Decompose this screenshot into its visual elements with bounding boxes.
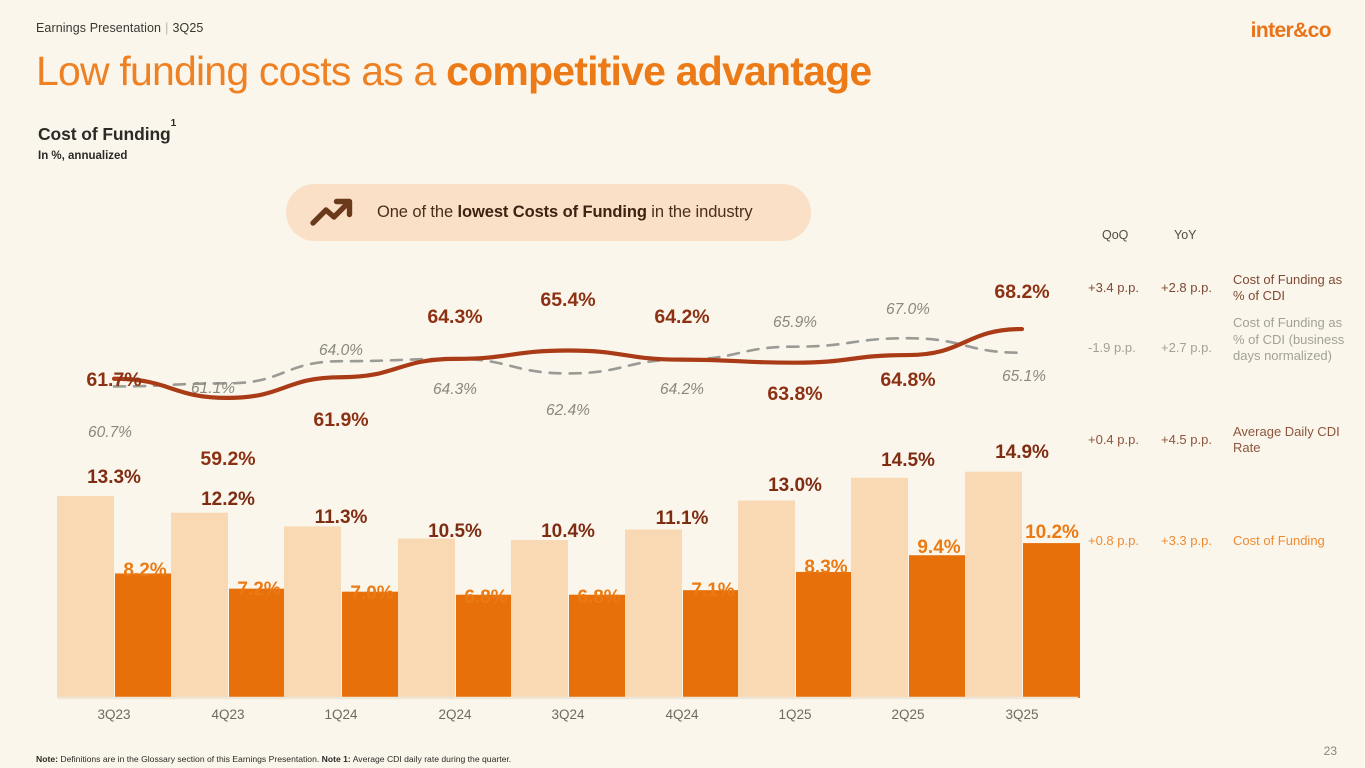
chart-title-footnote-marker: 1 [171,118,176,129]
bar-light [511,540,568,698]
callout-text: One of the lowest Costs of Funding in th… [377,203,753,222]
breadcrumb-quarter: 3Q25 [172,21,203,35]
bar-light [57,496,114,698]
bar-value-label: 14.5% [853,450,963,472]
callout-banner: One of the lowest Costs of Funding in th… [286,184,811,241]
metric-series-name: Cost of Funding as % of CDI [1233,272,1353,305]
bar-dark [456,595,513,698]
page-number: 23 [1324,744,1337,758]
bar-value-label: 7.1% [658,580,768,602]
line-value-label-dashed: 62.4% [513,402,623,420]
callout-text-emphasis: lowest Costs of Funding [458,203,647,221]
line-value-label-dashed: 61.1% [158,380,268,398]
x-axis-label: 1Q25 [750,707,840,722]
bar-light [284,526,341,698]
line-value-label-dashed: 67.0% [853,301,963,319]
breadcrumb-separator: | [165,21,168,35]
metric-series-name: Cost of Funding [1233,533,1353,550]
metric-series-name: Cost of Funding as % of CDI (business da… [1233,315,1353,365]
bar-dark [1023,543,1080,698]
metric-yoy-value: +3.3 p.p. [1161,533,1212,548]
metric-qoq-value: +3.4 p.p. [1088,280,1139,295]
x-axis-label: 2Q24 [410,707,500,722]
chart-title-text: Cost of Funding [38,124,171,144]
line-value-label-dashed: 64.2% [627,381,737,399]
callout-text-before: One of the [377,203,458,221]
footnote-note1-text: Average CDI daily rate during the quarte… [351,754,511,764]
line-value-label-dashed: 65.9% [740,314,850,332]
metrics-col-yoy: YoY [1174,228,1196,242]
metric-yoy-value: +2.7 p.p. [1161,340,1212,355]
chart-title: Cost of Funding1 [38,124,176,145]
bar-dark [796,572,853,698]
bar-dark [229,589,286,698]
x-axis-label: 2Q25 [863,707,953,722]
bar-light [851,478,908,698]
line-value-label-solid: 65.4% [508,289,628,312]
footnote-note-label: Note: [36,754,58,764]
bar-value-label: 6.8% [544,587,654,609]
x-axis-label: 3Q23 [69,707,159,722]
callout-text-after: in the industry [647,203,753,221]
bar-light [171,513,228,698]
line-value-label-solid: 64.8% [848,369,968,392]
trending-up-icon [309,196,355,230]
bar-value-label: 13.0% [740,475,850,497]
inter-co-logo: inter&co [1251,19,1331,43]
bar-value-label: 6.8% [431,587,541,609]
bar-dark [342,592,399,698]
bar-dark [115,573,172,698]
line-value-label-dashed: 64.0% [286,342,396,360]
metric-qoq-value: +0.4 p.p. [1088,432,1139,447]
line-value-label-dashed: 65.1% [969,368,1079,386]
metric-qoq-value: -1.9 p.p. [1088,340,1136,355]
slide: Earnings Presentation|3Q25 inter&co Low … [0,0,1365,768]
bar-value-label: 10.5% [400,521,510,543]
x-axis-label: 1Q24 [296,707,386,722]
line-value-label-solid: 61.7% [54,369,174,392]
metric-qoq-value: +0.8 p.p. [1088,533,1139,548]
x-axis-label: 4Q24 [637,707,727,722]
metrics-col-qoq: QoQ [1102,228,1128,242]
bar-value-label: 11.3% [286,507,396,529]
line-value-label-solid: 64.2% [622,306,742,329]
bar-value-label: 12.2% [173,489,283,511]
bar-value-label: 9.4% [884,537,994,559]
bar-value-label: 8.3% [771,557,881,579]
bar-value-label: 14.9% [967,442,1077,464]
footnote: Note: Definitions are in the Glossary se… [36,754,511,764]
bar-value-label: 13.3% [59,467,169,489]
line-value-label-solid: 61.9% [281,409,401,432]
footnote-note-text: Definitions are in the Glossary section … [58,754,322,764]
bar-value-label: 7.2% [204,579,314,601]
line-value-label-solid: 59.2% [168,448,288,471]
bar-value-label: 8.2% [90,560,200,582]
x-axis-label: 4Q23 [183,707,273,722]
line-value-label-solid: 63.8% [735,383,855,406]
line-value-label-dashed: 60.7% [55,424,165,442]
bar-dark [909,555,966,698]
line-value-label-solid: 68.2% [962,281,1082,304]
page-title: Low funding costs as a competitive advan… [36,48,871,95]
breadcrumb: Earnings Presentation|3Q25 [36,21,203,35]
metric-yoy-value: +4.5 p.p. [1161,432,1212,447]
bar-value-label: 10.4% [513,521,623,543]
x-axis-label: 3Q24 [523,707,613,722]
bar-dark [569,595,626,698]
line-value-label-solid: 64.3% [395,306,515,329]
footnote-note1-label: Note 1: [322,754,351,764]
page-title-bold: competitive advantage [446,48,871,94]
metric-yoy-value: +2.8 p.p. [1161,280,1212,295]
bar-value-label: 7.0% [317,583,427,605]
bar-dark [683,590,740,698]
chart-subtitle: In %, annualized [38,150,127,162]
bar-value-label: 11.1% [627,508,737,530]
metric-series-name: Average Daily CDI Rate [1233,424,1353,457]
bar-light [398,539,455,698]
breadcrumb-prefix: Earnings Presentation [36,21,161,35]
x-axis-label: 3Q25 [977,707,1067,722]
bar-light [965,472,1022,698]
bar-light [625,529,682,698]
page-title-regular: Low funding costs as a [36,48,446,94]
line-value-label-dashed: 64.3% [400,381,510,399]
